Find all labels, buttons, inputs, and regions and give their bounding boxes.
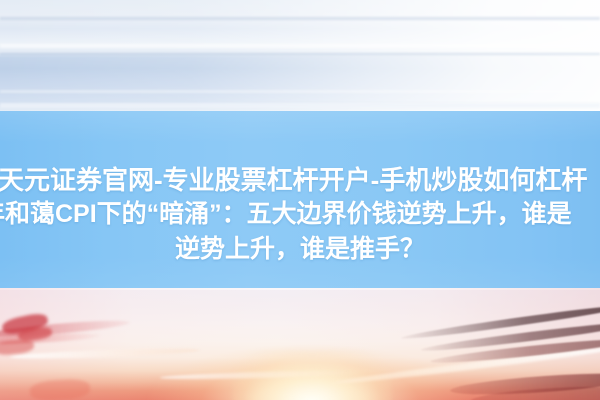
sky-top-layer xyxy=(0,0,600,111)
promo-banner: 天元证券官网-专业股票杠杆开户-手机炒股如何杠杆 年和蔼CPI下的“暗涌”：五大… xyxy=(0,0,600,400)
sky-streak xyxy=(0,17,600,20)
banner-headline-group: 天元证券官网-专业股票杠杆开户-手机炒股如何杠杆 年和蔼CPI下的“暗涌”：五大… xyxy=(0,111,600,288)
sky-streak xyxy=(0,44,600,48)
banner-site-title: 天元证券官网-专业股票杠杆开户-手机炒股如何杠杆 xyxy=(0,166,587,194)
banner-headline-line-3: 逆势上升，谁是推手？ xyxy=(0,235,600,263)
banner-headline-line-2: 年和蔼CPI下的“暗涌”：五大边界价钱逆势上升，谁是 xyxy=(0,200,572,228)
sky-streak xyxy=(0,103,600,108)
sky-streak xyxy=(0,90,600,93)
sunset-layer xyxy=(0,288,600,400)
sky-streak xyxy=(0,53,600,55)
